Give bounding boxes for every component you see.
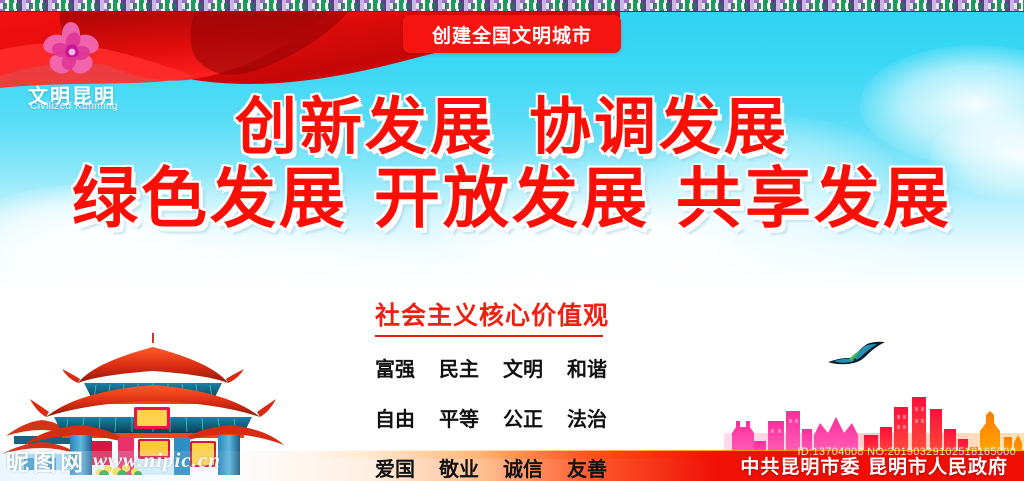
headline-2b: 开放发展 (374, 160, 650, 237)
core-value-item: 自由 (375, 403, 439, 432)
headline-1b: 协调发展 (529, 90, 789, 163)
core-values-block: 社会主义核心价值观 富强 民主 文明 和谐 自由 平等 公正 法治 爱国 敬业 … (375, 296, 675, 481)
core-value-item: 民主 (439, 353, 503, 382)
headline-2a: 绿色发展 (72, 160, 348, 237)
image-id-line: ID:13704008 NO:20190329102518165000 (798, 446, 1016, 458)
core-value-item: 诚信 (503, 453, 567, 481)
ethnic-pattern-border (0, 0, 1024, 12)
top-banner-label: 创建全国文明城市 (432, 21, 592, 48)
headline-line-1: 创新发展协调发展 (0, 92, 1024, 162)
core-value-item: 和谐 (567, 353, 631, 382)
watermark-cn: 昵图网 (6, 443, 87, 477)
core-value-item: 爱国 (375, 453, 439, 481)
core-values-title: 社会主义核心价值观 (375, 296, 675, 332)
core-value-item: 法治 (567, 403, 631, 432)
core-value-item: 平等 (439, 403, 503, 432)
core-values-grid: 富强 民主 文明 和谐 自由 平等 公正 法治 爱国 敬业 诚信 友善 (375, 353, 631, 481)
headline-line-2: 绿色发展开放发展共享发展 (0, 162, 1024, 236)
core-value-item: 友善 (567, 453, 631, 481)
core-value-item: 文明 (503, 353, 567, 382)
core-values-underline (375, 335, 603, 337)
core-value-item: 敬业 (439, 453, 503, 481)
flower-logo-icon (42, 22, 100, 80)
headline-1a: 创新发展 (235, 90, 495, 163)
top-banner-pill: 创建全国文明城市 (403, 15, 621, 53)
core-value-item: 富强 (375, 353, 439, 382)
watermark: 昵图网 www.nipic.cn (6, 443, 221, 477)
bird-icon (822, 340, 897, 374)
watermark-url: www.nipic.cn (93, 448, 221, 473)
core-value-item: 公正 (503, 403, 567, 432)
headline-2c: 共享发展 (676, 160, 952, 237)
headline-block: 创新发展协调发展 绿色发展开放发展共享发展 (0, 92, 1024, 236)
poster-canvas: 文明昆明 Civilized Kunming 创建全国文明城市 创新发展协调发展… (0, 0, 1024, 481)
